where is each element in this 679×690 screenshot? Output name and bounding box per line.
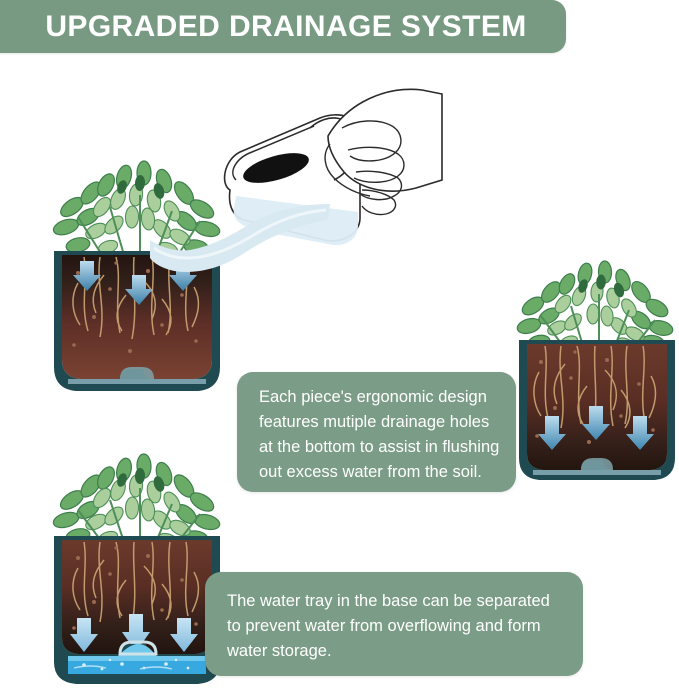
callout-drainage-holes-text: Each piece's ergonomic design features m…: [259, 385, 516, 485]
plant-foliage: [516, 261, 675, 352]
callout-water-tray-text: The water tray in the base can be separa…: [227, 589, 583, 664]
plant-foliage: [52, 454, 222, 549]
title-banner: UPGRADED DRAINAGE SYSTEM: [0, 0, 566, 53]
tray-water-film: [68, 379, 206, 384]
page-title: UPGRADED DRAINAGE SYSTEM: [0, 0, 566, 53]
planter-cross-section-reservoir: [44, 452, 230, 690]
tray-bump: [120, 367, 154, 379]
planter-cross-section-draining: [509, 258, 679, 500]
tray-water-film: [533, 470, 661, 475]
callout-drainage-holes: Each piece's ergonomic design features m…: [237, 372, 516, 492]
tray-bump: [581, 458, 613, 470]
callout-water-tray: The water tray in the base can be separa…: [205, 572, 583, 676]
water-stream: [150, 180, 330, 290]
infographic-page: UPGRADED DRAINAGE SYSTEM: [0, 0, 679, 690]
